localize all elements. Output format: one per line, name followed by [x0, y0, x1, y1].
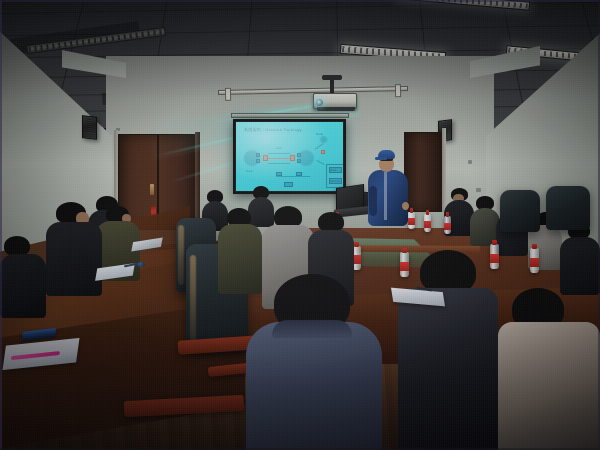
photo-scene: 系统架构 / Network Topology [0, 0, 600, 450]
hair [4, 236, 30, 256]
bottle-cap [410, 208, 414, 213]
projection-screen[interactable]: 系统架构 / Network Topology [233, 119, 346, 194]
attendee-right-5 [560, 222, 600, 292]
chair-piping [190, 255, 196, 341]
hair [318, 212, 344, 232]
attendee-left-edge [0, 236, 46, 316]
wall-speaker-left [82, 115, 97, 140]
wall-mark [468, 160, 472, 164]
chair-piping [178, 225, 184, 284]
torso [46, 222, 102, 296]
water-bottle-5[interactable] [424, 214, 431, 232]
hoodie [246, 322, 382, 450]
presenter [366, 150, 412, 228]
bottle-label [424, 221, 431, 228]
torso [398, 288, 498, 450]
attendee-front [246, 274, 382, 450]
computer-mouse[interactable] [137, 262, 145, 267]
bottle-cap [426, 210, 430, 215]
torso [498, 322, 600, 450]
water-bottle-6[interactable] [444, 216, 451, 234]
bottle-cap [446, 212, 450, 217]
water-bottle-8[interactable] [408, 212, 415, 229]
screen-roller [231, 113, 349, 118]
presenter-hand [402, 202, 409, 210]
bottle-label [530, 258, 539, 268]
bottle-cap [492, 240, 497, 245]
presenter-cap [378, 150, 395, 159]
bottle-label [444, 223, 451, 230]
wall-mark-2 [476, 188, 481, 192]
torso [560, 237, 600, 295]
projector-lens-icon [316, 99, 323, 106]
attendee-left-1 [46, 202, 102, 294]
bottle-cap [532, 244, 537, 249]
torso [0, 254, 46, 318]
slide-content: 系统架构 / Network Topology [236, 122, 343, 191]
attendee-front-2 [398, 250, 498, 450]
bottle-cap [354, 242, 359, 247]
hoodie-collar [272, 320, 352, 338]
attendee-right-cream [498, 288, 600, 450]
office-chair-4[interactable] [546, 186, 590, 230]
presenter-jacket [368, 170, 408, 226]
door-handle-icon[interactable] [150, 184, 154, 195]
office-chair-3[interactable] [500, 190, 540, 232]
bottle-label [408, 218, 415, 224]
water-bottle-4[interactable] [530, 248, 539, 273]
